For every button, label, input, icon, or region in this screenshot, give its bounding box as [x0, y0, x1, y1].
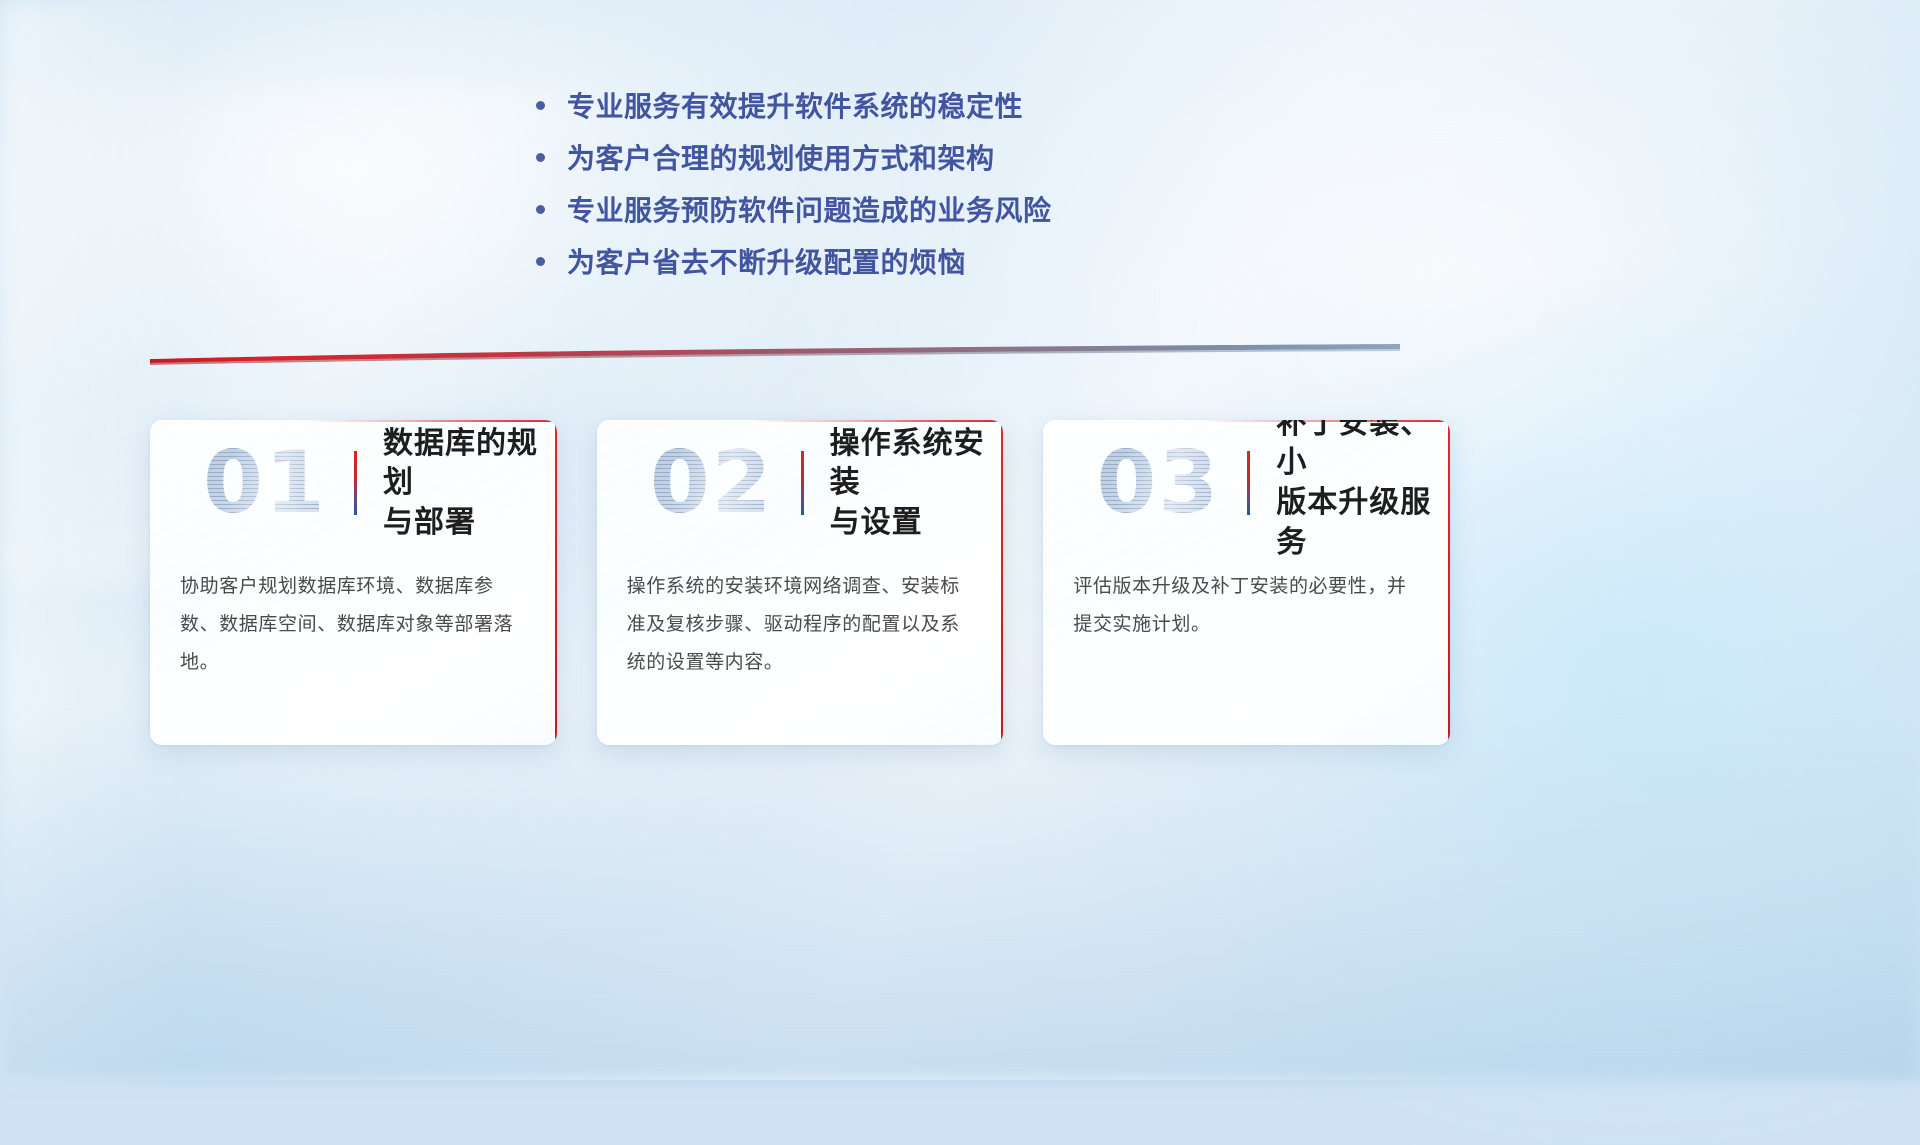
divider-blade: [150, 344, 1400, 366]
bullet-item-label: 为客户省去不断升级配置的烦恼: [567, 246, 966, 280]
card-watermark-number: 03: [1069, 440, 1247, 526]
card-title-line: 版本升级服务: [1276, 483, 1450, 562]
card-accent-bar: [354, 451, 357, 515]
card-watermark-number: 01: [176, 440, 354, 526]
bullet-item-label: 专业服务有效提升软件系统的稳定性: [567, 90, 1023, 124]
bullet-item: 专业服务预防软件问题造成的业务风险: [536, 194, 1236, 246]
bullet-item: 专业服务有效提升软件系统的稳定性: [536, 90, 1236, 142]
divider-blade-shape: [150, 344, 1400, 366]
background-bottom-fade: [0, 713, 1920, 1080]
card-title: 补丁安装、小 版本升级服务: [1276, 420, 1450, 562]
bullet-item-label: 为客户合理的规划使用方式和架构: [567, 142, 995, 176]
bullet-item: 为客户合理的规划使用方式和架构: [536, 142, 1236, 194]
card-description: 操作系统的安装环境网络调查、安装标准及复核步骤、驱动程序的配置以及系统的设置等内…: [597, 546, 1004, 682]
bullet-item: 为客户省去不断升级配置的烦恼: [536, 246, 1236, 298]
card-title: 数据库的规划 与部署: [383, 424, 557, 543]
bullet-dot-icon: [536, 257, 545, 266]
card-header: 01 数据库的规划 与部署: [150, 420, 557, 546]
card-title: 操作系统安装 与设置: [830, 424, 1004, 543]
card-02[interactable]: 02 操作系统安装 与设置 操作系统的安装环境网络调查、安装标准及复核步骤、驱动…: [597, 420, 1004, 745]
card-title-line: 补丁安装、小: [1276, 420, 1450, 483]
card-title-line: 数据库的规划: [383, 424, 557, 503]
card-01[interactable]: 01 数据库的规划 与部署 协助客户规划数据库环境、数据库参数、数据库空间、数据…: [150, 420, 557, 745]
bullet-dot-icon: [536, 101, 545, 110]
card-accent-bar: [801, 451, 804, 515]
card-03[interactable]: 03 补丁安装、小 版本升级服务 评估版本升级及补丁安装的必要性，并提交实施计划…: [1043, 420, 1450, 745]
card-accent-bar: [1247, 451, 1250, 515]
cards-row: 01 数据库的规划 与部署 协助客户规划数据库环境、数据库参数、数据库空间、数据…: [150, 420, 1450, 745]
card-watermark-number: 02: [623, 440, 801, 526]
card-title-line: 与部署: [383, 503, 557, 543]
bullet-list: 专业服务有效提升软件系统的稳定性 为客户合理的规划使用方式和架构 专业服务预防软…: [536, 90, 1236, 298]
card-header: 03 补丁安装、小 版本升级服务: [1043, 420, 1450, 546]
card-header: 02 操作系统安装 与设置: [597, 420, 1004, 546]
card-title-line: 与设置: [830, 503, 1004, 543]
card-title-line: 操作系统安装: [830, 424, 1004, 503]
card-description: 协助客户规划数据库环境、数据库参数、数据库空间、数据库对象等部署落地。: [150, 546, 557, 682]
bullet-dot-icon: [536, 153, 545, 162]
bullet-dot-icon: [536, 205, 545, 214]
bullet-item-label: 专业服务预防软件问题造成的业务风险: [567, 194, 1052, 228]
